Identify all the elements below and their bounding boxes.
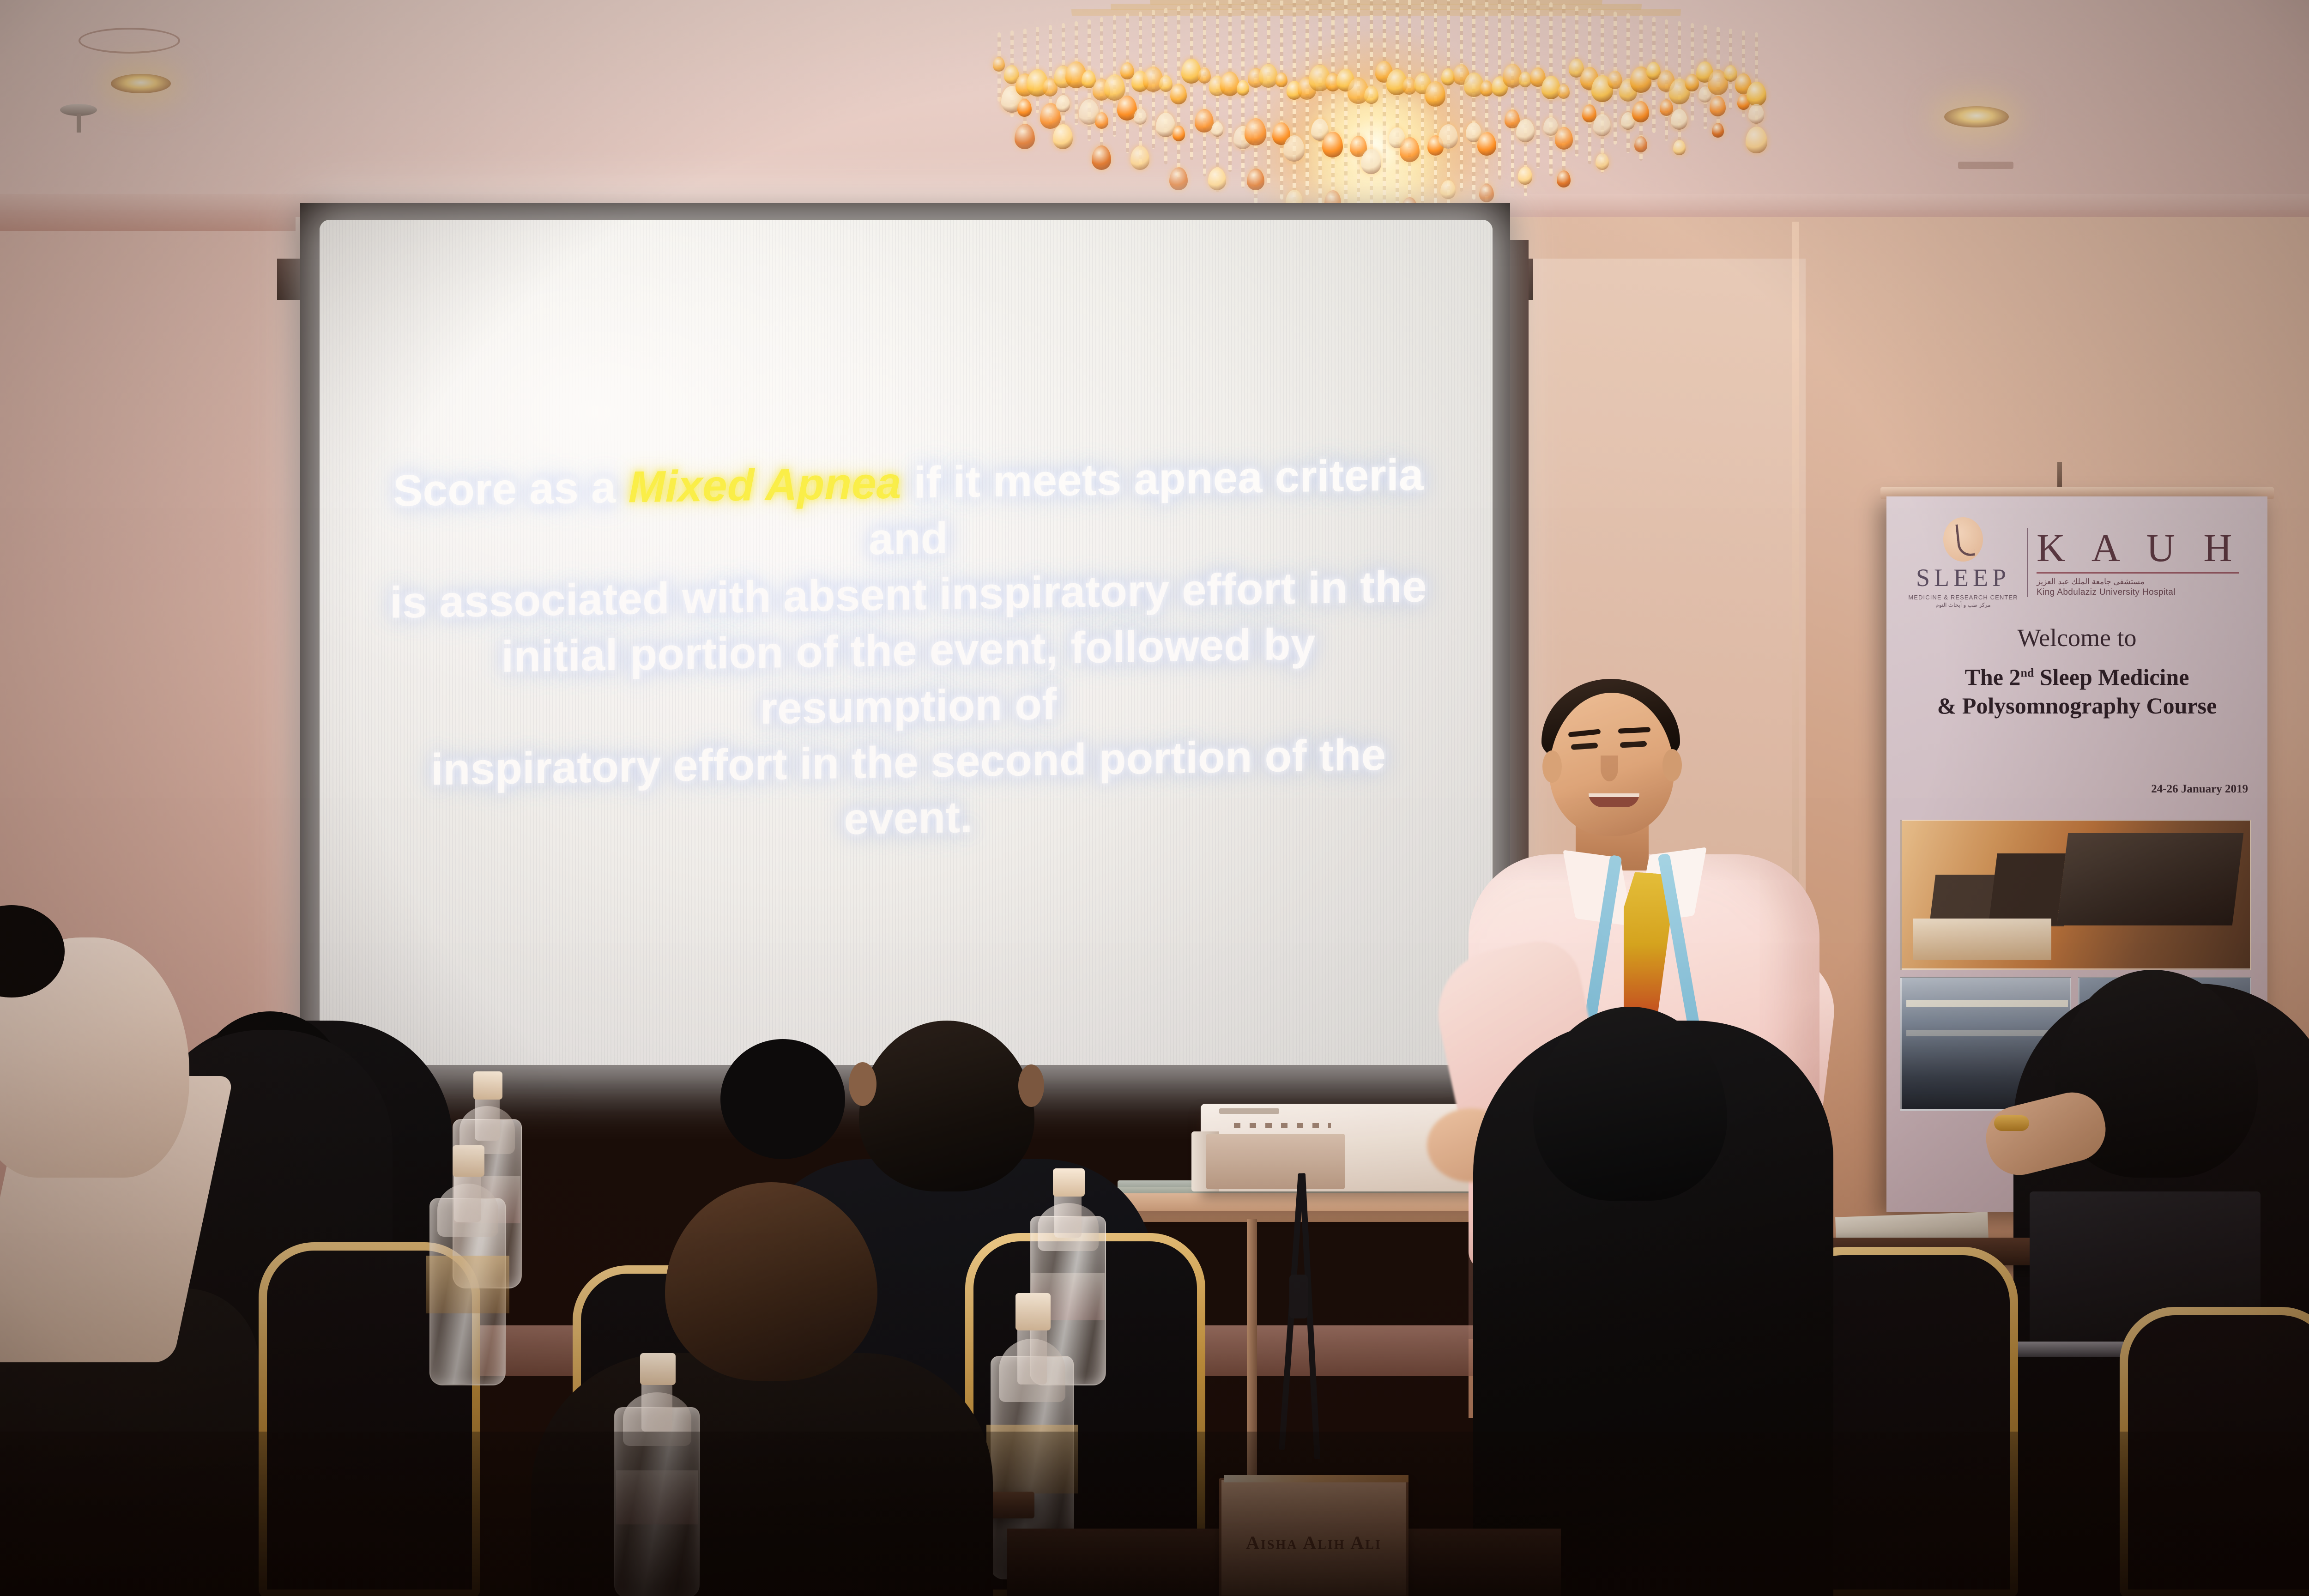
chandelier-amber-bead	[1017, 99, 1032, 117]
chandelier-amber-bead	[1593, 114, 1611, 136]
chandelier-amber-bead	[1555, 127, 1573, 150]
bottle-neck	[1017, 1322, 1047, 1384]
chandelier-crystal-strand	[1511, 0, 1514, 188]
water-bottle-5	[614, 1353, 700, 1596]
presenter-ear-left	[1542, 750, 1562, 783]
chandelier-crystal-strand	[1472, 0, 1475, 199]
chandelier-crystal-strand	[1293, 0, 1296, 216]
chandelier-amber-bead	[1596, 153, 1609, 170]
projector-rear-panel	[1206, 1134, 1345, 1189]
chandelier-amber-bead	[1557, 170, 1571, 188]
recessed-downlight-right-icon	[1944, 106, 2009, 127]
chandelier-amber-bead	[1712, 123, 1724, 138]
chandelier-amber-bead	[1400, 137, 1420, 162]
chandelier-amber-bead	[1173, 126, 1185, 141]
chandelier-crystal-strand	[1383, 0, 1386, 215]
bottle-neck	[475, 1093, 500, 1141]
chandelier-crystal-strand	[1344, 0, 1348, 207]
lecture-hall-photo: Score as a Mixed Apnea if it meets apnea…	[0, 0, 2309, 1596]
kauh-arabic: مستشفى جامعة الملك عبد العزيز	[2037, 577, 2247, 586]
chandelier-crystal-strand	[1267, 0, 1270, 184]
chandelier-amber-bead	[1092, 145, 1111, 170]
bottle-gold-band	[426, 1256, 510, 1313]
bottle-gold-band	[986, 1425, 1078, 1493]
sleep-center-logo: SLEEP MEDICINE & RESEARCH CENTER مركز طب…	[1908, 517, 2019, 608]
banner-course-title: The 2nd Sleep Medicine & Polysomnography…	[1886, 663, 2267, 720]
chandelier-amber-bead	[993, 57, 1005, 72]
chandelier-amber-bead	[1747, 82, 1766, 107]
chandelier-amber-bead	[1748, 104, 1764, 124]
chandelier-amber-bead	[1095, 112, 1108, 129]
chandelier-amber-bead	[1198, 67, 1211, 84]
banner-welcome-text: Welcome to	[1886, 623, 2267, 652]
chandelier-amber-bead	[1104, 74, 1125, 100]
slide-highlight-term: Mixed Apnea	[629, 458, 901, 512]
chandelier-crystal-strand	[1485, 0, 1488, 208]
sleep-subtitle-arabic: مركز طب و أبحاث النوم	[1908, 602, 2019, 608]
chandelier-amber-bead	[1503, 64, 1522, 88]
chandelier-amber-bead	[1710, 96, 1726, 116]
banner-logo-row: SLEEP MEDICINE & RESEARCH CENTER مركز طب…	[1908, 519, 2247, 606]
chandelier-amber-bead	[1211, 122, 1223, 137]
chandelier-amber-bead	[1159, 75, 1173, 92]
chandelier-amber-bead	[1518, 167, 1532, 185]
bottle-cap	[640, 1353, 676, 1385]
chandelier-amber-bead	[1558, 84, 1570, 99]
course-title-part-b: Sleep Medicine	[2034, 664, 2189, 690]
attendee-back-row-head	[720, 1039, 845, 1159]
slide-line-1-a: Score as a	[393, 463, 628, 516]
slide-text-block: Score as a Mixed Apnea if it meets apnea…	[384, 447, 1433, 854]
name-placard: Aisha Alih Ali	[1219, 1478, 1408, 1596]
chandelier-amber-bead	[1134, 109, 1147, 125]
projector-vent	[1219, 1108, 1279, 1114]
presenter-mouth	[1589, 793, 1639, 807]
projector-buttons	[1234, 1123, 1331, 1128]
chandelier-crystal-strand	[1421, 0, 1424, 203]
chandelier-amber-bead	[1170, 84, 1187, 104]
ceiling-ring	[79, 28, 180, 54]
course-title-ordinal: nd	[2020, 666, 2034, 679]
chandelier-amber-bead	[1220, 72, 1239, 96]
course-title-line-2: & Polysomnography Course	[1937, 693, 2217, 719]
chandelier-amber-bead	[1015, 124, 1035, 149]
chair-far-right	[2120, 1307, 2309, 1596]
cable-ferrite-bead	[1289, 1275, 1308, 1318]
chandelier-crystal-strand	[1691, 23, 1694, 121]
chandelier-crystal-strand	[1216, 0, 1219, 192]
attendee-center-ear-left	[849, 1062, 876, 1106]
sleep-wordmark: SLEEP	[1908, 563, 2019, 592]
course-title-part-a: The 2	[1965, 664, 2021, 690]
chandelier-amber-bead	[1247, 169, 1264, 191]
attendee-foreground-body	[531, 1353, 993, 1596]
chandelier-amber-bead	[1724, 65, 1737, 82]
chandelier-amber-bead	[1364, 86, 1378, 104]
chandelier-amber-bead	[1237, 80, 1249, 96]
recessed-downlight-left-icon	[111, 74, 171, 93]
banner-photo-sleep-lab	[1900, 820, 2251, 970]
chandelier-amber-bead	[1673, 140, 1686, 156]
bottle-label	[616, 1470, 698, 1524]
chandelier-crystal-strand	[1460, 0, 1463, 192]
chandelier-amber-bead	[1660, 99, 1673, 116]
screen-surface: Score as a Mixed Apnea if it meets apnea…	[320, 220, 1493, 1065]
chandelier-amber-bead	[1632, 101, 1649, 122]
bottle-cap	[1015, 1293, 1051, 1330]
chandelier-crystal-strand	[1318, 0, 1322, 212]
name-placard-edge	[1224, 1475, 1408, 1482]
bottle-neck	[641, 1378, 672, 1432]
chandelier-amber-bead	[1671, 109, 1687, 130]
chandelier-crystal-strand	[1280, 0, 1283, 199]
kauh-logo: K A U H مستشفى جامعة الملك عبد العزيز Ki…	[2037, 528, 2247, 598]
slide-line-3: initial portion of the event, followed b…	[384, 615, 1433, 743]
chandelier-amber-bead	[1541, 76, 1560, 99]
chandelier-amber-bead	[1056, 95, 1070, 113]
slide-line-1: Score as a Mixed Apnea if it meets apnea…	[384, 447, 1433, 575]
chandelier-crystal-strand	[1357, 0, 1360, 223]
chandelier-amber-bead	[1195, 109, 1214, 133]
chandelier-amber-bead	[1519, 72, 1531, 87]
chandelier-amber-bead	[1746, 127, 1767, 154]
chandelier-amber-bead	[1439, 124, 1458, 149]
chandelier-crystal-strand	[1126, 13, 1129, 152]
ceiling-sprinkler-head-icon	[60, 104, 97, 116]
chandelier-amber-bead	[1169, 167, 1188, 190]
slide-line-1-b: if it meets apnea criteria and	[869, 450, 1423, 564]
chandelier-amber-bead	[1053, 124, 1073, 149]
banner-course-date: 24-26 January 2019	[2151, 783, 2248, 796]
chandelier-crystal-strand	[1408, 0, 1411, 231]
gold-bracelet	[1994, 1115, 2029, 1131]
attendee-white-thobe	[0, 937, 268, 1596]
sleep-subtitle: MEDICINE & RESEARCH CENTER	[1908, 594, 2019, 601]
kauh-rule	[2037, 572, 2239, 574]
chandelier-amber-bead	[1208, 168, 1226, 190]
ac-vent	[1958, 162, 2013, 169]
chandelier-amber-bead	[1516, 119, 1535, 142]
bottle-cap	[473, 1071, 502, 1100]
chandelier-amber-bead	[1275, 73, 1287, 88]
projector-table-leg-left	[1247, 1219, 1257, 1478]
kauh-english: King Abdulaziz University Hospital	[2037, 587, 2247, 598]
chandelier-amber-bead	[1477, 132, 1496, 156]
bottle-cap	[1053, 1168, 1085, 1197]
chandelier-crystal-strand	[1203, 2, 1206, 176]
chandelier-amber-bead	[1634, 136, 1647, 152]
banner-support-pole	[2057, 462, 2062, 490]
logo-divider	[2027, 528, 2028, 597]
kauh-wordmark: K A U H	[2037, 528, 2247, 568]
presenter-nose	[1601, 756, 1618, 781]
bottle-neck	[1054, 1190, 1082, 1238]
crescent-moon-face-icon	[1943, 517, 1983, 562]
chandelier-amber-bead	[1130, 146, 1149, 169]
projection-screen: Score as a Mixed Apnea if it meets apnea…	[300, 203, 1510, 1081]
presenter-ear-right	[1662, 749, 1682, 781]
attendee-center-ear-right	[1018, 1064, 1044, 1107]
bottle-neck	[454, 1169, 481, 1222]
chandelier-amber-bead	[1259, 64, 1278, 87]
bottle-cap	[453, 1145, 484, 1177]
water-bottle-2	[429, 1145, 506, 1385]
slide-line-4: inspiratory effort in the second portion…	[384, 726, 1433, 855]
chandelier-crystal-strand	[1575, 6, 1578, 157]
chandelier-crystal-strand	[1396, 0, 1399, 223]
name-placard-text: Aisha Alih Ali	[1221, 1532, 1406, 1554]
